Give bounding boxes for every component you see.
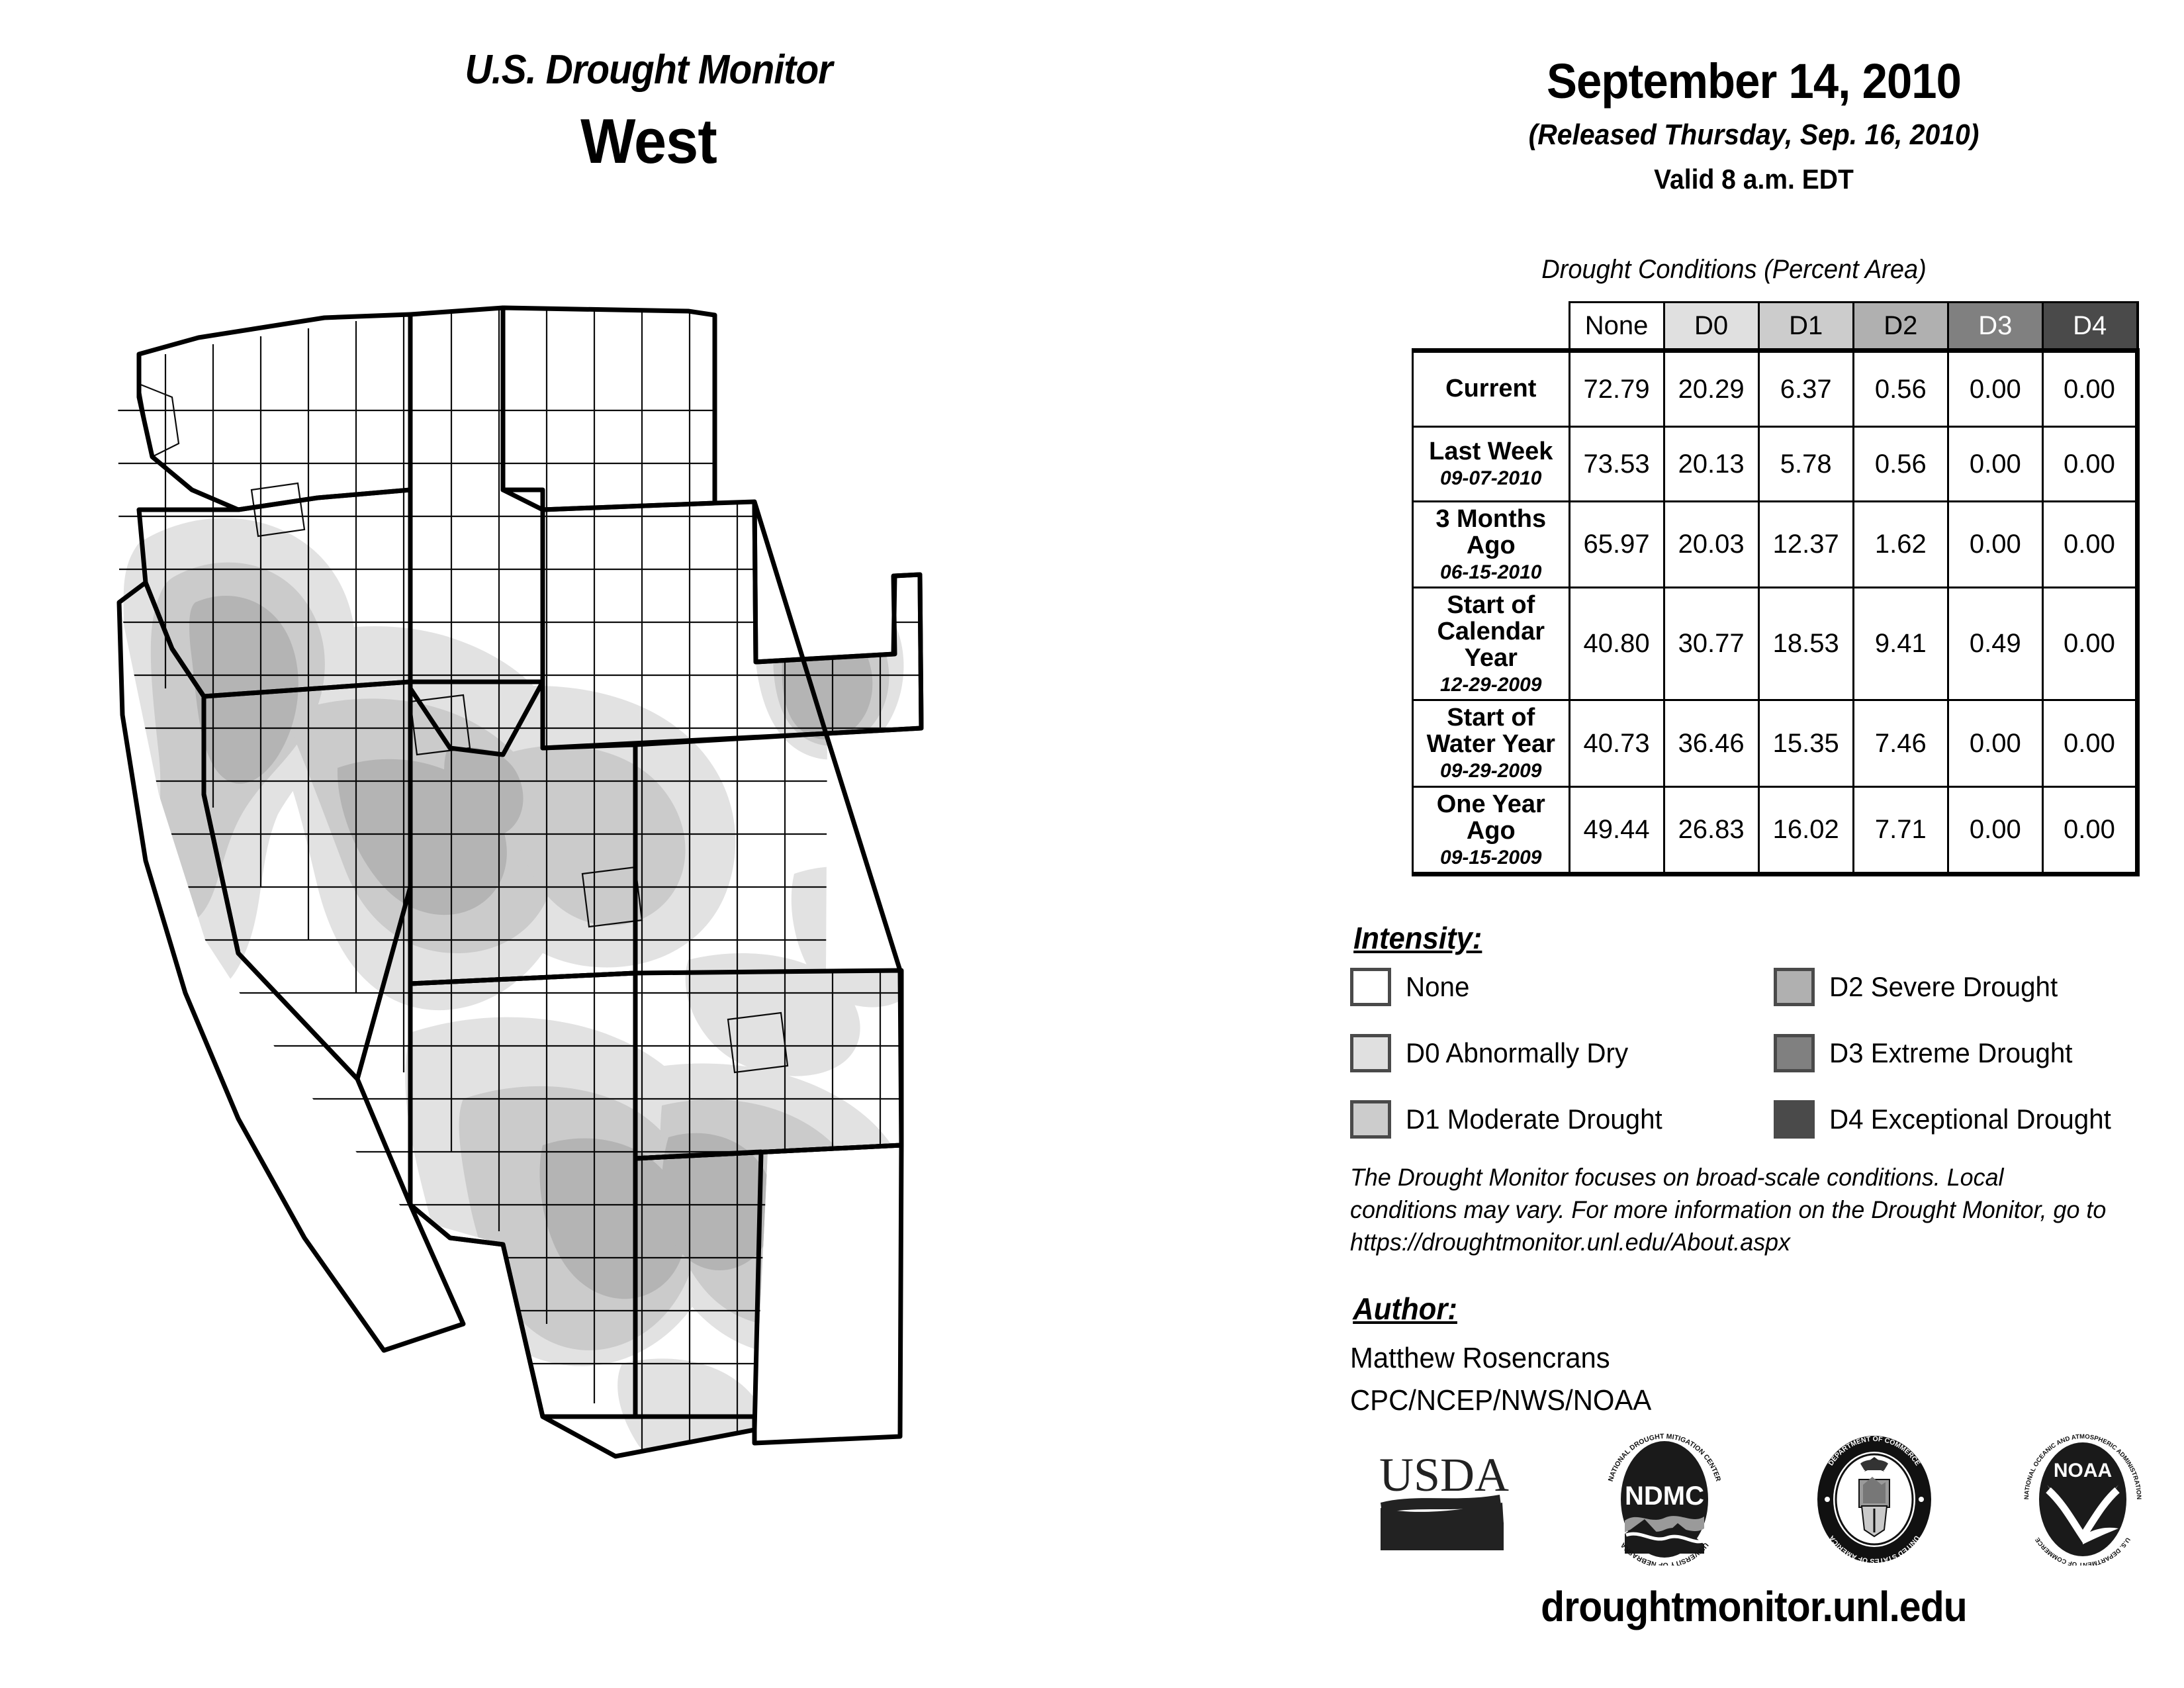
table-cell-d4: 0.00: [2042, 786, 2137, 874]
legend-label-d0: D0 Abnormally Dry: [1406, 1037, 1628, 1069]
intensity-heading: Intensity:: [1353, 920, 1482, 956]
date-block: September 14, 2010 (Released Thursday, S…: [1324, 53, 2184, 195]
table-cell-d4: 0.00: [2042, 427, 2137, 502]
table-cell-d2: 0.56: [1853, 351, 1948, 427]
table-row-date: 09-15-2009: [1416, 847, 1566, 868]
drought-shading-layer: [124, 518, 933, 1483]
table-caption: Drought Conditions (Percent Area): [1344, 255, 2124, 285]
table-cell-d0: 30.77: [1664, 588, 1758, 700]
table-col-header-d4: D4: [2042, 303, 2137, 351]
table-col-header-d2: D2: [1853, 303, 1948, 351]
table-corner-cell: [1413, 303, 1570, 351]
table-cell-none: 65.97: [1569, 502, 1664, 588]
legend-swatch-d2: [1774, 968, 1815, 1006]
legend-swatch-d0: [1350, 1034, 1391, 1072]
table-row-label: 3 Months Ago06-15-2010: [1413, 502, 1570, 588]
usda-logo: USDA: [1377, 1442, 1519, 1558]
legend-swatch-d1: [1350, 1100, 1391, 1139]
table-row-label: Last Week09-07-2010: [1413, 427, 1570, 502]
author-block: Matthew Rosencrans CPC/NCEP/NWS/NOAA: [1350, 1337, 1651, 1422]
table-row-date: 09-07-2010: [1416, 468, 1566, 489]
table-cell-d3: 0.00: [1948, 351, 2042, 427]
author-affiliation: CPC/NCEP/NWS/NOAA: [1350, 1380, 1651, 1422]
table-cell-none: 40.80: [1569, 588, 1664, 700]
map-svg: [40, 291, 1297, 1589]
legend-item-d0[interactable]: D0 Abnormally Dry: [1350, 1034, 1637, 1072]
map-title-block: U.S. Drought Monitor West: [0, 46, 1297, 178]
table-cell-d4: 0.00: [2042, 588, 2137, 700]
table-row: Last Week09-07-201073.5320.135.780.560.0…: [1413, 427, 2138, 502]
table-cell-d4: 0.00: [2042, 351, 2137, 427]
table-row: Start ofWater Year09-29-200940.7336.4615…: [1413, 700, 2138, 786]
table-cell-d0: 36.46: [1664, 700, 1758, 786]
table-row-date: 09-29-2009: [1416, 761, 1566, 782]
table-col-header-d0: D0: [1664, 303, 1758, 351]
table-cell-d2: 7.71: [1853, 786, 1948, 874]
table-cell-d0: 26.83: [1664, 786, 1758, 874]
table-col-header-d1: D1: [1758, 303, 1853, 351]
legend-label-d1: D1 Moderate Drought: [1406, 1103, 1662, 1135]
legend-swatch-d3: [1774, 1034, 1815, 1072]
table-cell-none: 72.79: [1569, 351, 1664, 427]
map-panel: U.S. Drought Monitor West: [0, 0, 1324, 1688]
table-cell-d0: 20.29: [1664, 351, 1758, 427]
table-cell-d2: 1.62: [1853, 502, 1948, 588]
release-date: (Released Thursday, Sep. 16, 2010): [1354, 118, 2154, 152]
valid-time: Valid 8 a.m. EDT: [1354, 164, 2154, 195]
legend-swatch-none: [1350, 968, 1391, 1006]
legend-label-none: None: [1406, 971, 1469, 1003]
table-cell-none: 49.44: [1569, 786, 1664, 874]
report-date: September 14, 2010: [1354, 53, 2154, 109]
drought-region-d0: [617, 1358, 770, 1483]
legend-item-none[interactable]: None: [1350, 968, 1472, 1006]
author-name: Matthew Rosencrans: [1350, 1337, 1651, 1380]
table-cell-d0: 20.03: [1664, 502, 1758, 588]
table-cell-d2: 0.56: [1853, 427, 1948, 502]
logo-row: USDA NDMC NATIONAL DROUGHT MITIGATION CE…: [1363, 1430, 2158, 1569]
legend-item-d1[interactable]: D1 Moderate Drought: [1350, 1100, 1673, 1139]
table-cell-d3: 0.00: [1948, 427, 2042, 502]
table-cell-d3: 0.00: [1948, 786, 2042, 874]
svg-text:NOAA: NOAA: [2054, 1460, 2112, 1481]
legend-label-d4: D4 Exceptional Drought: [1829, 1103, 2111, 1135]
table-cell-d3: 0.00: [1948, 502, 2042, 588]
department-of-commerce-seal: DEPARTMENT OF COMMERCE UNITED STATES OF …: [1811, 1433, 1937, 1566]
table-cell-d2: 9.41: [1853, 588, 1948, 700]
table-row-label: Current: [1413, 351, 1570, 427]
site-url[interactable]: droughtmonitor.unl.edu: [1358, 1582, 2150, 1631]
table-cell-d3: 0.00: [1948, 700, 2042, 786]
table-cell-d1: 18.53: [1758, 588, 1853, 700]
table-row: Start ofCalendar Year12-29-200940.8030.7…: [1413, 588, 2138, 700]
author-heading: Author:: [1353, 1291, 1457, 1327]
table-cell-d4: 0.00: [2042, 700, 2137, 786]
noaa-logo: NOAA NATIONAL OCEANIC AND ATMOSPHERIC AD…: [2022, 1433, 2144, 1566]
table-cell-d1: 12.37: [1758, 502, 1853, 588]
table-col-header-d3: D3: [1948, 303, 2042, 351]
drought-map[interactable]: [40, 291, 1297, 1589]
legend-label-d3: D3 Extreme Drought: [1829, 1037, 2073, 1069]
legend-label-d2: D2 Severe Drought: [1829, 971, 2058, 1003]
legend-swatch-d4: [1774, 1100, 1815, 1139]
table-cell-d1: 6.37: [1758, 351, 1853, 427]
map-title-primary: U.S. Drought Monitor: [52, 46, 1245, 93]
svg-text:NDMC: NDMC: [1625, 1481, 1704, 1511]
table-row-label: Start ofWater Year09-29-2009: [1413, 700, 1570, 786]
ndmc-logo: NDMC NATIONAL DROUGHT MITIGATION CENTER …: [1604, 1433, 1726, 1566]
table-cell-d0: 20.13: [1664, 427, 1758, 502]
table-header: NoneD0D1D2D3D4: [1413, 303, 2138, 351]
table-row-label: Start ofCalendar Year12-29-2009: [1413, 588, 1570, 700]
table-header-row: NoneD0D1D2D3D4: [1413, 303, 2138, 351]
table-cell-none: 40.73: [1569, 700, 1664, 786]
info-panel: September 14, 2010 (Released Thursday, S…: [1324, 0, 2184, 1688]
table-row-date: 06-15-2010: [1416, 562, 1566, 583]
table-cell-d3: 0.49: [1948, 588, 2042, 700]
table-row: 3 Months Ago06-15-201065.9720.0312.371.6…: [1413, 502, 2138, 588]
table-cell-none: 73.53: [1569, 427, 1664, 502]
drought-conditions-table: NoneD0D1D2D3D4 Current72.7920.296.370.56…: [1412, 301, 2140, 876]
table-row: Current72.7920.296.370.560.000.00: [1413, 351, 2138, 427]
table-cell-d2: 7.46: [1853, 700, 1948, 786]
disclaimer-text: The Drought Monitor focuses on broad-sca…: [1350, 1162, 2114, 1258]
svg-text:USDA: USDA: [1379, 1448, 1509, 1501]
table-body: Current72.7920.296.370.560.000.00Last We…: [1413, 351, 2138, 874]
legend-item-d3[interactable]: D3 Extreme Drought: [1774, 1034, 2083, 1072]
table-cell-d1: 5.78: [1758, 427, 1853, 502]
table-cell-d1: 15.35: [1758, 700, 1853, 786]
table-col-header-none: None: [1569, 303, 1664, 351]
legend-item-d2[interactable]: D2 Severe Drought: [1774, 968, 2068, 1006]
table-row-date: 12-29-2009: [1416, 675, 1566, 696]
table-row-label: One Year Ago09-15-2009: [1413, 786, 1570, 874]
table-cell-d4: 0.00: [2042, 502, 2137, 588]
table-cell-d1: 16.02: [1758, 786, 1853, 874]
table-row: One Year Ago09-15-200949.4426.8316.027.7…: [1413, 786, 2138, 874]
legend-item-d4[interactable]: D4 Exceptional Drought: [1774, 1100, 2123, 1139]
map-title-region: West: [52, 105, 1245, 178]
